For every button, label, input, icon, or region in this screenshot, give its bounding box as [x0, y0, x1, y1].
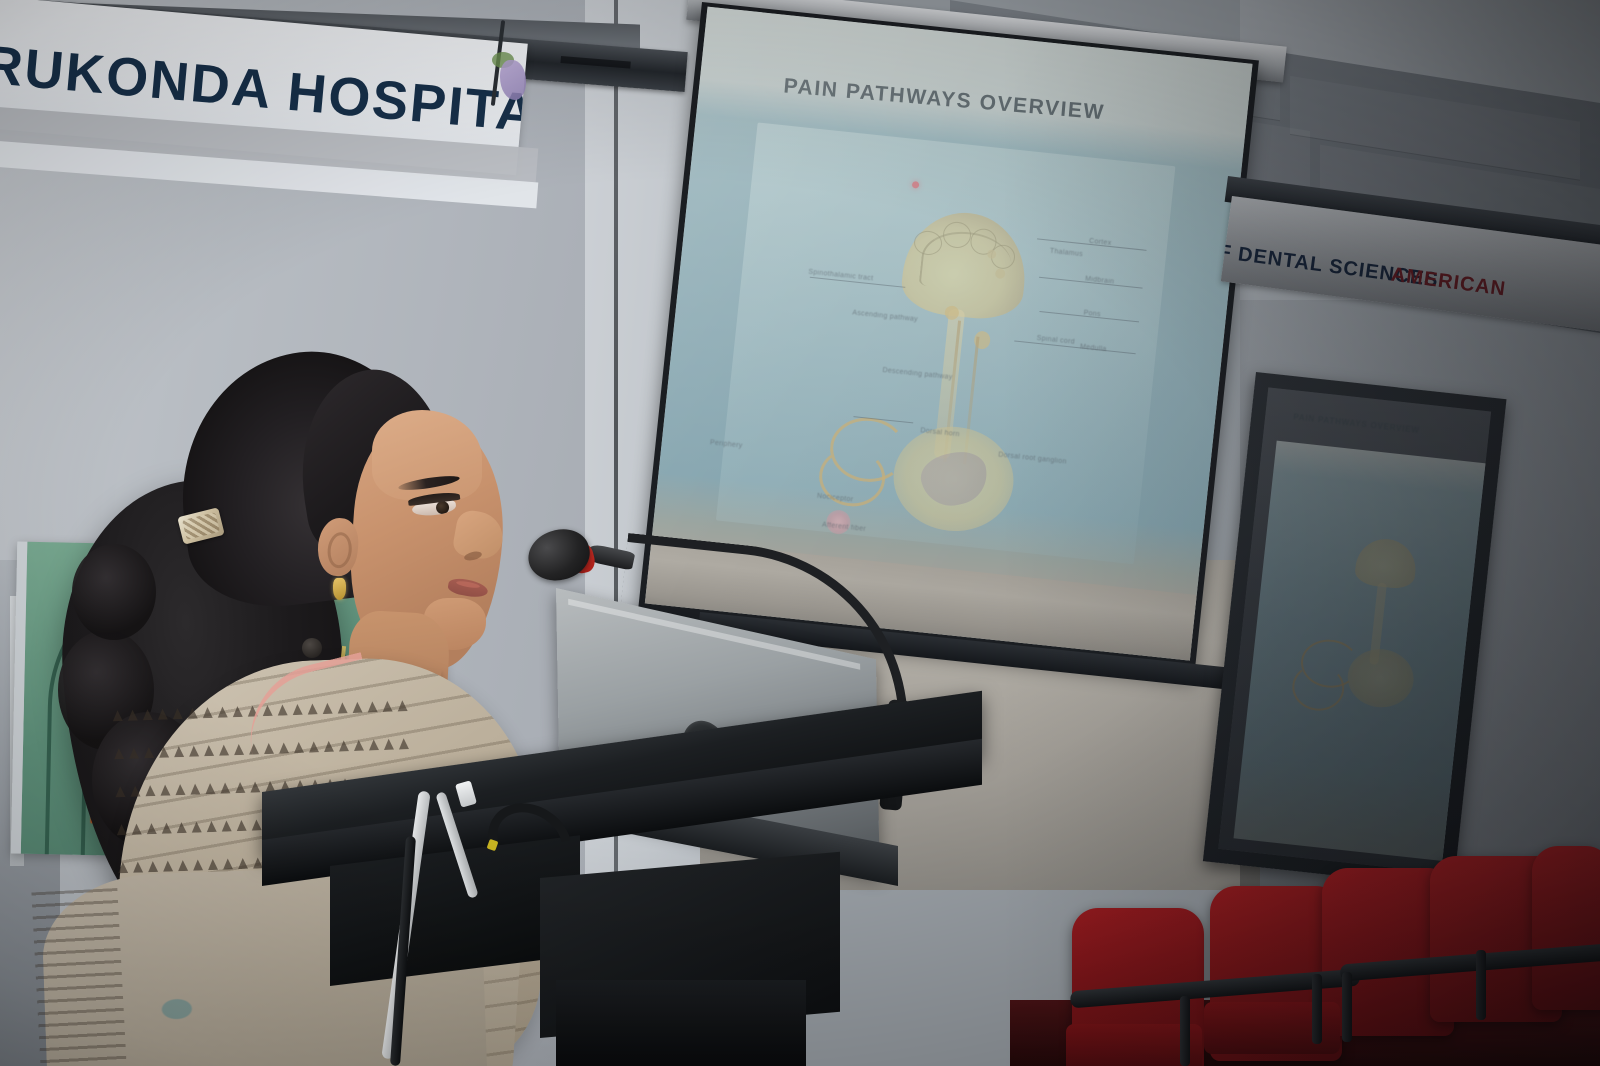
chair-leg — [1342, 972, 1352, 1042]
chair-leg — [1180, 996, 1190, 1066]
chair-leg — [1312, 974, 1322, 1044]
hanging-purple-ornament — [500, 60, 526, 100]
chair-leg — [1476, 950, 1486, 1020]
slide-title: PAIN PATHWAYS OVERVIEW — [783, 74, 1106, 125]
secondary-display-shadow — [1218, 387, 1491, 872]
lecture-hall-scene: ERUKONDA HOSPITAL PAIN PATHWAYS OVERVIEW — [0, 0, 1600, 1066]
right-banner-text-2: AMERICAN — [1390, 264, 1508, 302]
podium-column — [556, 980, 806, 1066]
secondary-display-surface: PAIN PATHWAYS OVERVIEW — [1218, 387, 1491, 872]
gold-earring — [333, 578, 346, 600]
secondary-display: PAIN PATHWAYS OVERVIEW — [1203, 372, 1507, 888]
audience-chair — [1532, 846, 1600, 1010]
dark-earring-bead — [302, 638, 322, 658]
